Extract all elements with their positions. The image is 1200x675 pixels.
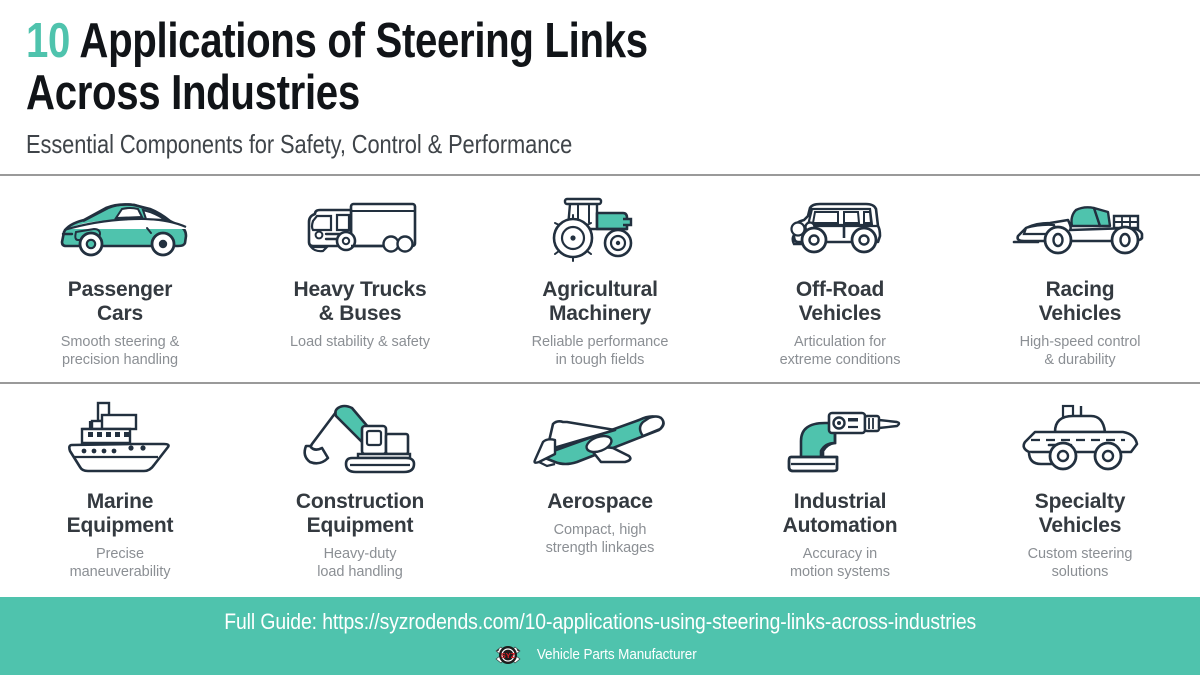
card-title: MarineEquipment — [67, 490, 174, 538]
cards-row-2: MarineEquipment Precisemaneuverability C… — [0, 384, 1200, 594]
card-title: IndustrialAutomation — [783, 490, 898, 538]
card-description: Custom steeringsolutions — [1028, 545, 1133, 581]
card-title: Aerospace — [547, 490, 653, 514]
card-description: Articulation forextreme conditions — [780, 333, 901, 369]
card-construction-equipment[interactable]: ConstructionEquipment Heavy-dutyload han… — [240, 384, 480, 594]
card-passenger-cars[interactable]: PassengerCars Smooth steering &precision… — [0, 176, 240, 382]
card-title: SpecialtyVehicles — [1035, 490, 1125, 538]
full-guide-link[interactable]: Full Guide: https://syzrodends.com/10-ap… — [224, 609, 976, 635]
robot-arm-icon — [777, 398, 903, 480]
card-description: Load stability & safety — [290, 333, 430, 351]
infographic-page: 10 Applications of Steering Links Across… — [0, 0, 1200, 675]
card-racing-vehicles[interactable]: RacingVehicles High-speed control& durab… — [960, 176, 1200, 382]
card-description: Heavy-dutyload handling — [317, 545, 403, 581]
card-description: Compact, highstrength linkages — [546, 521, 655, 557]
footer-bar: Full Guide: https://syzrodends.com/10-ap… — [0, 597, 1200, 675]
airplane-icon — [525, 398, 675, 480]
card-marine-equipment[interactable]: MarineEquipment Precisemaneuverability — [0, 384, 240, 594]
card-offroad-vehicles[interactable]: Off-RoadVehicles Articulation forextreme… — [720, 176, 960, 382]
brand-row: SYZ Vehicle Parts Manufacturer — [495, 642, 706, 668]
card-title: Off-RoadVehicles — [796, 278, 884, 326]
excavator-icon — [300, 398, 420, 480]
card-title: Heavy Trucks& Buses — [293, 278, 426, 326]
page-subtitle: Essential Components for Safety, Control… — [26, 129, 1012, 160]
tractor-icon — [545, 190, 655, 268]
title-rest: Applications of Steering Links — [70, 14, 648, 68]
cards-row-1: PassengerCars Smooth steering &precision… — [0, 176, 1200, 382]
card-description: Accuracy inmotion systems — [790, 545, 890, 581]
racing-car-icon — [1010, 190, 1150, 268]
armored-vehicle-icon — [1015, 398, 1145, 480]
card-title: RacingVehicles — [1039, 278, 1121, 326]
heavy-truck-icon — [297, 190, 423, 268]
title-number: 10 — [26, 14, 70, 68]
card-description: Reliable performancein tough fields — [532, 333, 669, 369]
card-title: PassengerCars — [68, 278, 172, 326]
card-description: Precisemaneuverability — [70, 545, 171, 581]
page-title-line2: Across Industries — [26, 68, 989, 120]
card-specialty-vehicles[interactable]: SpecialtyVehicles Custom steeringsolutio… — [960, 384, 1200, 594]
passenger-car-icon — [50, 190, 190, 268]
header: 10 Applications of Steering Links Across… — [0, 0, 1200, 160]
card-aerospace[interactable]: Aerospace Compact, highstrength linkages — [480, 384, 720, 594]
card-description: High-speed control& durability — [1020, 333, 1141, 369]
page-title: 10 Applications of Steering Links — [26, 16, 989, 68]
card-title: ConstructionEquipment — [296, 490, 424, 538]
card-title: AgriculturalMachinery — [542, 278, 657, 326]
offroad-suv-icon — [782, 190, 898, 268]
card-agricultural-machinery[interactable]: AgriculturalMachinery Reliable performan… — [480, 176, 720, 382]
card-heavy-trucks-buses[interactable]: Heavy Trucks& Buses Load stability & saf… — [240, 176, 480, 382]
brand-label: Vehicle Parts Manufacturer — [537, 646, 697, 663]
card-industrial-automation[interactable]: IndustrialAutomation Accuracy inmotion s… — [720, 384, 960, 594]
svg-text:SYZ: SYZ — [500, 651, 515, 660]
syz-racing-logo-icon: SYZ — [495, 642, 521, 668]
ship-icon — [58, 398, 182, 480]
card-description: Smooth steering &precision handling — [61, 333, 179, 369]
